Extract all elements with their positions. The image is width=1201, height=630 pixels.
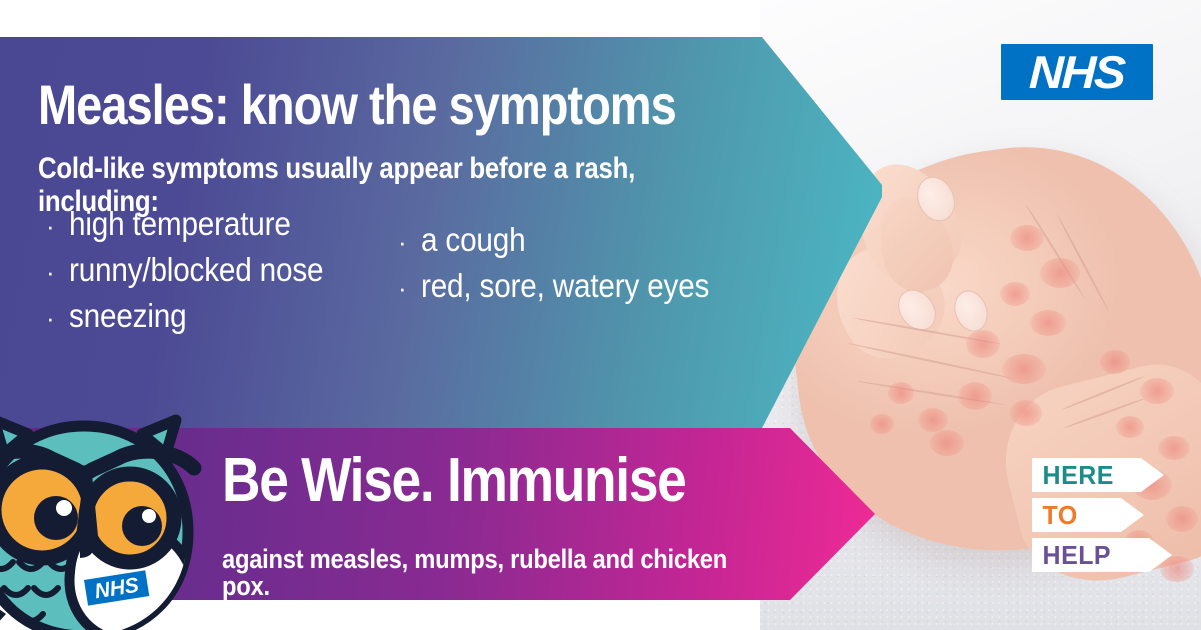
here-to-help-row-to: TO: [1032, 498, 1144, 532]
rash-spot: [918, 408, 948, 432]
symptoms-column-right: · a cough · red, sore, watery eyes: [398, 223, 741, 315]
cta-subline: against measles, mumps, rubella and chic…: [222, 546, 731, 600]
here-to-help-row-help: HELP: [1032, 538, 1172, 572]
bullet-icon: ·: [398, 229, 407, 255]
list-item: · a cough: [398, 223, 741, 256]
owl-mascot-illustration: NHS: [0, 408, 210, 630]
here-to-help-row-here: HERE: [1032, 458, 1164, 492]
list-item-label: high temperature: [69, 207, 291, 240]
here-to-help-label: TO: [1032, 502, 1078, 528]
owl-pupil-left: [34, 496, 78, 540]
rash-spot: [1002, 354, 1046, 384]
owl-eye-glint-left: [56, 500, 72, 516]
rash-spot: [1158, 436, 1190, 460]
rash-spot: [1030, 310, 1066, 336]
nhs-logo-text: NHS: [1029, 49, 1125, 95]
symptoms-banner-content: Measles: know the symptoms Cold-like sym…: [0, 37, 800, 428]
list-item: · high temperature: [46, 207, 351, 240]
list-item-label: sneezing: [69, 299, 186, 332]
rash-spot: [1040, 258, 1080, 288]
rash-spot: [870, 414, 894, 434]
rash-spot: [1116, 416, 1144, 438]
here-to-help-label: HERE: [1032, 462, 1114, 488]
owl-pupil-right: [122, 506, 162, 546]
rash-spot: [1100, 350, 1130, 374]
rash-spot: [958, 382, 992, 410]
rash-spot: [930, 430, 964, 456]
rash-spot: [1010, 400, 1042, 426]
cta-headline: Be Wise. Immunise: [222, 450, 686, 512]
list-item-label: red, sore, watery eyes: [421, 269, 709, 302]
rash-spot: [1010, 225, 1044, 251]
symptoms-column-left: · high temperature · runny/blocked nose …: [46, 207, 351, 345]
measles-awareness-poster: Measles: know the symptoms Cold-like sym…: [0, 0, 1201, 630]
list-item: · runny/blocked nose: [46, 253, 351, 286]
bullet-icon: ·: [46, 305, 55, 331]
bullet-icon: ·: [46, 259, 55, 285]
here-to-help-label: HELP: [1032, 542, 1111, 568]
rash-spot: [966, 330, 1000, 358]
bullet-icon: ·: [46, 213, 55, 239]
page-title: Measles: know the symptoms: [38, 77, 676, 133]
nhs-logo: NHS: [1001, 44, 1153, 100]
list-item-label: runny/blocked nose: [69, 253, 323, 286]
owl-mascot: NHS: [0, 408, 210, 630]
rash-spot: [1140, 378, 1174, 404]
owl-eye-glint-right: [142, 509, 156, 523]
list-item: · sneezing: [46, 299, 351, 332]
rash-spot: [1000, 282, 1030, 306]
list-item: · red, sore, watery eyes: [398, 269, 741, 302]
bullet-icon: ·: [398, 275, 407, 301]
rash-spot: [888, 382, 914, 404]
list-item-label: a cough: [421, 223, 525, 256]
here-to-help-logo: HERE TO HELP: [1032, 458, 1178, 576]
